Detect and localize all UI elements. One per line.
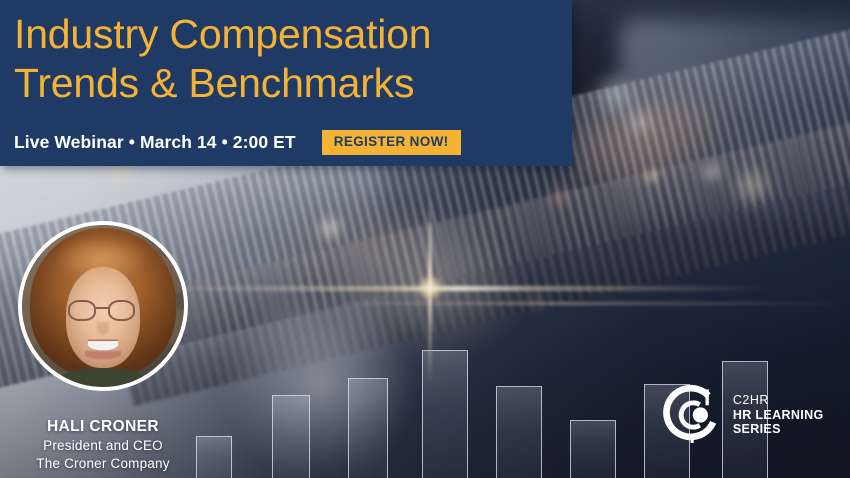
header-panel: Industry Compensation Trends & Benchmark… [0, 0, 572, 166]
portrait-nose [97, 322, 108, 335]
chart-bar [422, 350, 468, 478]
portrait-glasses-right [108, 300, 136, 321]
chart-bar [570, 420, 616, 478]
webinar-promo-banner: Industry Compensation Trends & Benchmark… [0, 0, 850, 478]
chart-bar [496, 386, 542, 478]
event-details-row: Live Webinar • March 14 • 2:00 ET REGIST… [14, 130, 461, 155]
avatar [18, 221, 188, 391]
chart-bar [348, 378, 388, 478]
speaker-organization: The Croner Company [0, 456, 206, 471]
logo-wordmark: C2HR HR LEARNING SERIES [733, 393, 850, 437]
speaker-name: HALI CRONER [0, 418, 206, 436]
portrait-hair-highlight [54, 235, 148, 284]
event-details: Live Webinar • March 14 • 2:00 ET [14, 132, 296, 153]
chart-bar [272, 395, 310, 478]
c2hr-circular-mark-icon [662, 378, 723, 452]
logo-brand-name: C2HR [733, 393, 850, 408]
register-now-button[interactable]: REGISTER NOW! [322, 130, 461, 155]
portrait-glasses-bridge [96, 307, 108, 309]
speaker-portrait-image [22, 225, 184, 387]
portrait-glasses-left [68, 300, 96, 321]
c2hr-logo: C2HR HR LEARNING SERIES [662, 378, 850, 452]
page-title: Industry Compensation Trends & Benchmark… [14, 10, 562, 108]
logo-tagline: HR LEARNING SERIES [733, 408, 850, 438]
speaker-job-title: President and CEO [0, 438, 206, 453]
